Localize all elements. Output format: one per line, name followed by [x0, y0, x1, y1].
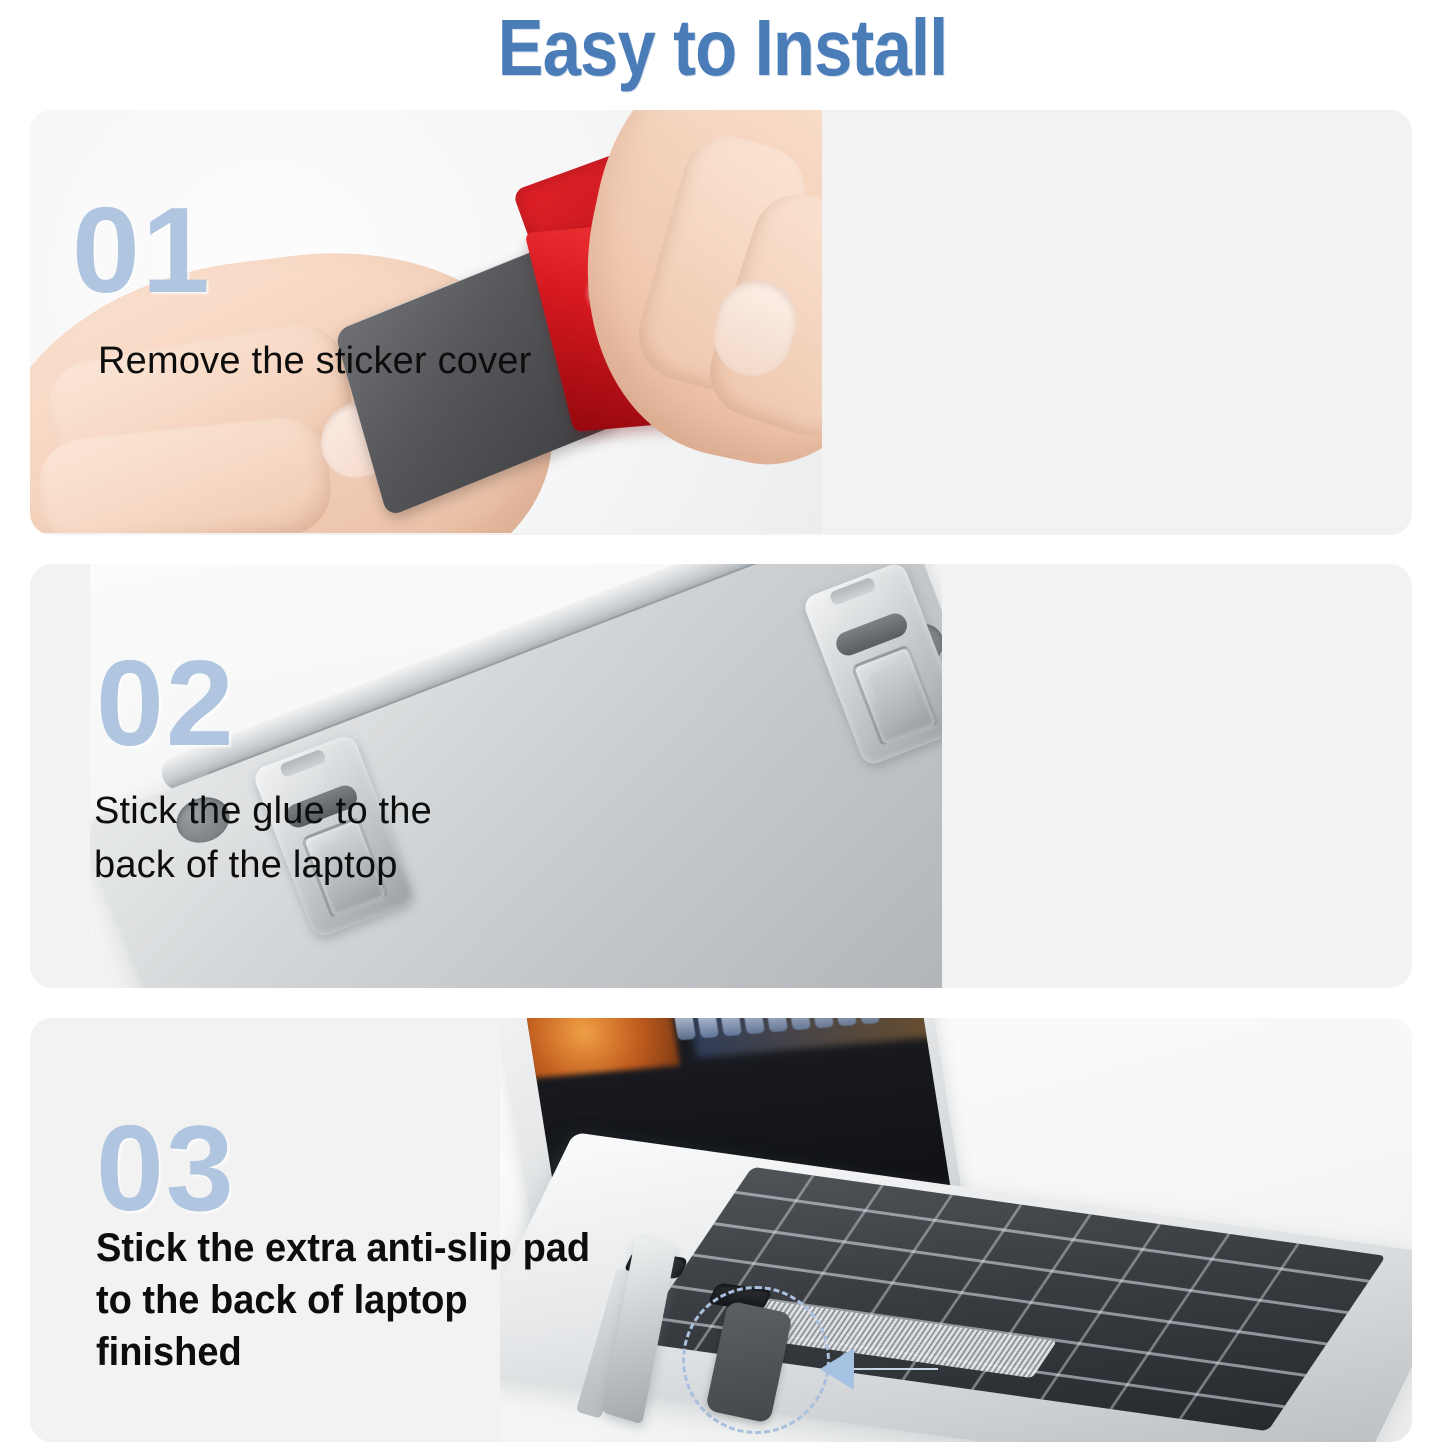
wallpaper-warm-region: [526, 1018, 680, 1078]
step-3-number: 03: [96, 1113, 236, 1223]
dock-icon: [811, 1018, 834, 1028]
dock-icon: [696, 1018, 719, 1038]
dock-icon: [765, 1018, 788, 1032]
dock-icon: [788, 1018, 811, 1030]
step-3-text: Stick the extra anti-slip pad to the bac…: [96, 1222, 590, 1378]
step-2-text: Stick the glue to the back of the laptop: [94, 784, 432, 892]
step-3-photo: [500, 1018, 1412, 1442]
callout-arrow-line: [852, 1368, 938, 1370]
dock-icon: [742, 1018, 765, 1034]
step-1-number: 01: [72, 195, 212, 305]
dock-icon: [857, 1018, 880, 1024]
keyboard-column: [1109, 1234, 1230, 1410]
dock-icon: [834, 1018, 857, 1026]
step-1-text: Remove the sticker cover: [98, 335, 532, 387]
step-panel-1: 3M™: [30, 110, 1412, 535]
callout-arrow-icon: [820, 1348, 854, 1390]
step-panel-2: [30, 564, 1412, 988]
dock-icon: [719, 1018, 742, 1036]
keyboard-column: [1040, 1224, 1161, 1400]
keyboard-column: [1179, 1243, 1300, 1419]
infographic-page: Easy to Install 3M™ 01 Remove the sticke…: [0, 0, 1445, 1445]
step-2-number: 02: [96, 648, 236, 758]
step-1-photo: 3M™: [30, 110, 822, 533]
page-title: Easy to Install: [101, 2, 1344, 94]
step-2-photo: [90, 564, 942, 988]
dock-icon: [673, 1018, 696, 1040]
